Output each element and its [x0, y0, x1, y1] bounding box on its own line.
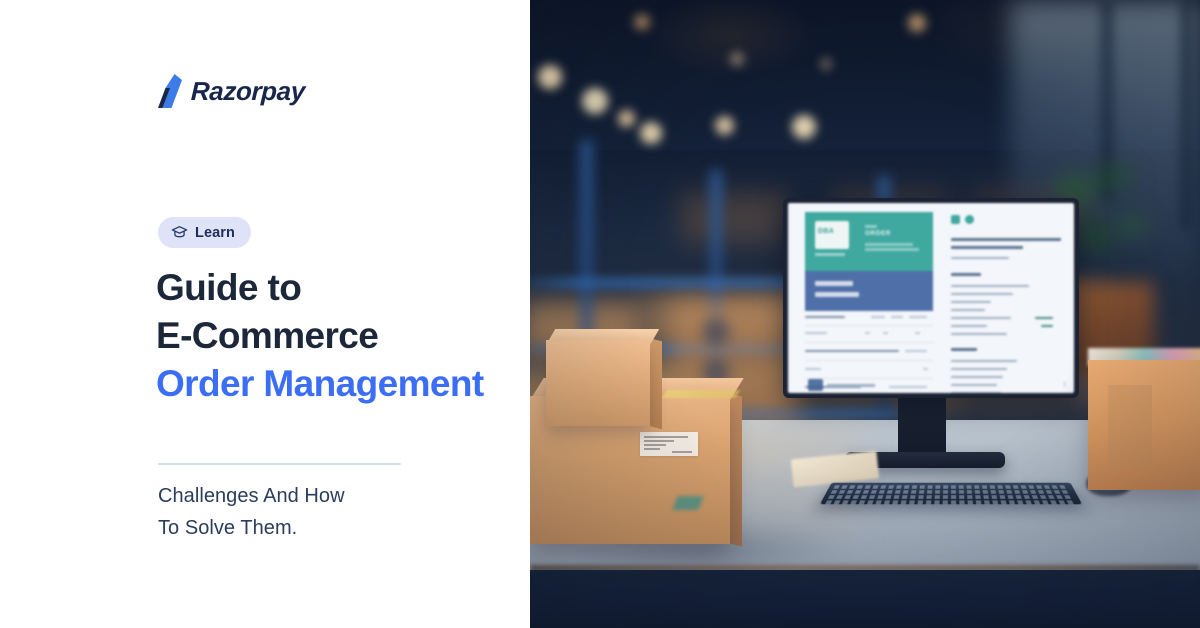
- screen-row-value: [909, 316, 927, 318]
- screen-row-label: [805, 350, 899, 352]
- screen-body-line: [951, 325, 987, 327]
- screen-footer-text: [827, 384, 875, 387]
- screen-body-line: [951, 309, 985, 311]
- keyboard-row: [831, 490, 1072, 494]
- screen-row-value: [889, 386, 927, 388]
- bokeh-light: [820, 58, 832, 70]
- razorpay-logo[interactable]: Razorpay: [158, 74, 305, 108]
- window-mullion: [1180, 0, 1192, 230]
- screen-header-title: ORDER: [865, 230, 891, 237]
- screen-body-line: [951, 257, 1009, 259]
- keyboard[interactable]: [820, 483, 1082, 505]
- bokeh-light: [538, 65, 562, 89]
- screen-subheader-line: [815, 281, 853, 286]
- screen-row-value: [905, 350, 927, 352]
- warehouse-shelf-block: [680, 192, 790, 244]
- screen-row-value: [871, 316, 885, 318]
- learn-badge-label: Learn: [195, 225, 235, 241]
- subtitle-line-2: To Solve Them.: [158, 512, 488, 544]
- teal-sticky-note: [672, 496, 703, 510]
- screen-row-value: [891, 316, 903, 318]
- screen-divider: [805, 378, 933, 379]
- screen-row-value: [923, 368, 928, 370]
- screen-header-eyebrow: [865, 225, 877, 228]
- screen-logo-subline: [815, 253, 845, 256]
- bokeh-light: [730, 52, 744, 66]
- headline-line-1: Guide to: [156, 264, 516, 312]
- shipping-label-line: [644, 444, 666, 446]
- bokeh-light: [908, 14, 926, 32]
- open-box-panel: [1108, 385, 1152, 467]
- razorpay-wordmark: Razorpay: [191, 78, 306, 104]
- screen-divider: [805, 342, 933, 343]
- shipping-label-line: [644, 436, 688, 438]
- screen-brand-glyph: [951, 215, 960, 224]
- page-subtitle: Challenges And How To Solve Them.: [158, 480, 488, 544]
- shipping-box-small: [546, 340, 650, 426]
- monitor-stand-neck: [898, 396, 946, 458]
- shipping-label-line: [644, 440, 674, 442]
- left-content-panel: Razorpay Learn Guide to E-Commerce Order…: [0, 0, 530, 628]
- screen-footer-logo: [808, 379, 823, 391]
- screen-brand-glyph: [965, 215, 974, 224]
- screen-body-line: [951, 392, 1001, 393]
- screen-body-line: [951, 293, 1013, 295]
- bokeh-light: [634, 14, 650, 30]
- bokeh-light: [715, 116, 734, 135]
- learn-badge[interactable]: Learn: [158, 217, 251, 248]
- screen-logo-text: DBA: [818, 228, 834, 235]
- bokeh-light: [792, 115, 816, 139]
- screen-section-title: [951, 348, 977, 351]
- razorpay-arrow-mark-icon: [158, 74, 184, 108]
- screen-row-label: [805, 316, 845, 318]
- screen-body-line: [951, 360, 1017, 362]
- title-divider: [158, 463, 401, 465]
- screen-subheader-block: [805, 271, 933, 311]
- headline-line-3-accent: Order Management: [156, 360, 516, 408]
- screen-body-line: [951, 384, 997, 386]
- screen-divider: [805, 325, 933, 326]
- screen-header-block: DBA ORDER: [805, 212, 933, 271]
- packing-tape: [662, 390, 741, 398]
- page-title: Guide to E-Commerce Order Management: [156, 264, 516, 408]
- screen-subheader-line: [815, 292, 859, 297]
- shipping-label-line: [644, 448, 660, 450]
- screen-page-number: 1: [1063, 382, 1066, 388]
- screen-body-line: [951, 301, 991, 303]
- screen-row-label: [805, 332, 827, 334]
- hero-photo-panel: DBA ORDER: [530, 0, 1200, 628]
- screen-body-line: [951, 317, 1011, 319]
- screen-row-value: [915, 332, 920, 334]
- screen-divider: [805, 360, 933, 361]
- screen-body-value: [1035, 317, 1053, 319]
- background-box-marking: [702, 318, 730, 346]
- screen-body-line: [951, 285, 1029, 287]
- bokeh-light: [582, 88, 608, 114]
- bokeh-light: [640, 122, 662, 144]
- keyboard-row: [825, 500, 1077, 504]
- keyboard-row: [833, 485, 1069, 488]
- screen-body-line: [951, 368, 1007, 370]
- screen-body-line: [951, 376, 1003, 378]
- bokeh-light: [618, 110, 635, 127]
- screen-body-value: [1041, 325, 1053, 327]
- screen-row-value: [883, 332, 888, 334]
- screen-row-label: [805, 368, 821, 370]
- desk-front-face: [530, 570, 1200, 628]
- screen-row-value: [865, 332, 870, 334]
- screen-header-line: [865, 243, 913, 246]
- poster-canvas: Razorpay Learn Guide to E-Commerce Order…: [0, 0, 1200, 628]
- screen-logo-box: [815, 221, 849, 249]
- graduation-cap-icon: [171, 224, 188, 241]
- screen-heading-line: [951, 246, 1023, 249]
- screen-section-title: [951, 273, 981, 276]
- monitor[interactable]: DBA ORDER: [783, 198, 1079, 398]
- monitor-screen[interactable]: DBA ORDER: [788, 203, 1074, 393]
- screen-header-line: [865, 248, 919, 251]
- subtitle-line-1: Challenges And How: [158, 480, 488, 512]
- screen-heading-line: [951, 238, 1061, 241]
- screen-body-line: [951, 333, 1007, 335]
- keyboard-row: [828, 495, 1074, 499]
- shipping-label: [640, 432, 698, 456]
- headline-line-2: E-Commerce: [156, 312, 516, 360]
- shipping-label-barcode: [672, 451, 692, 453]
